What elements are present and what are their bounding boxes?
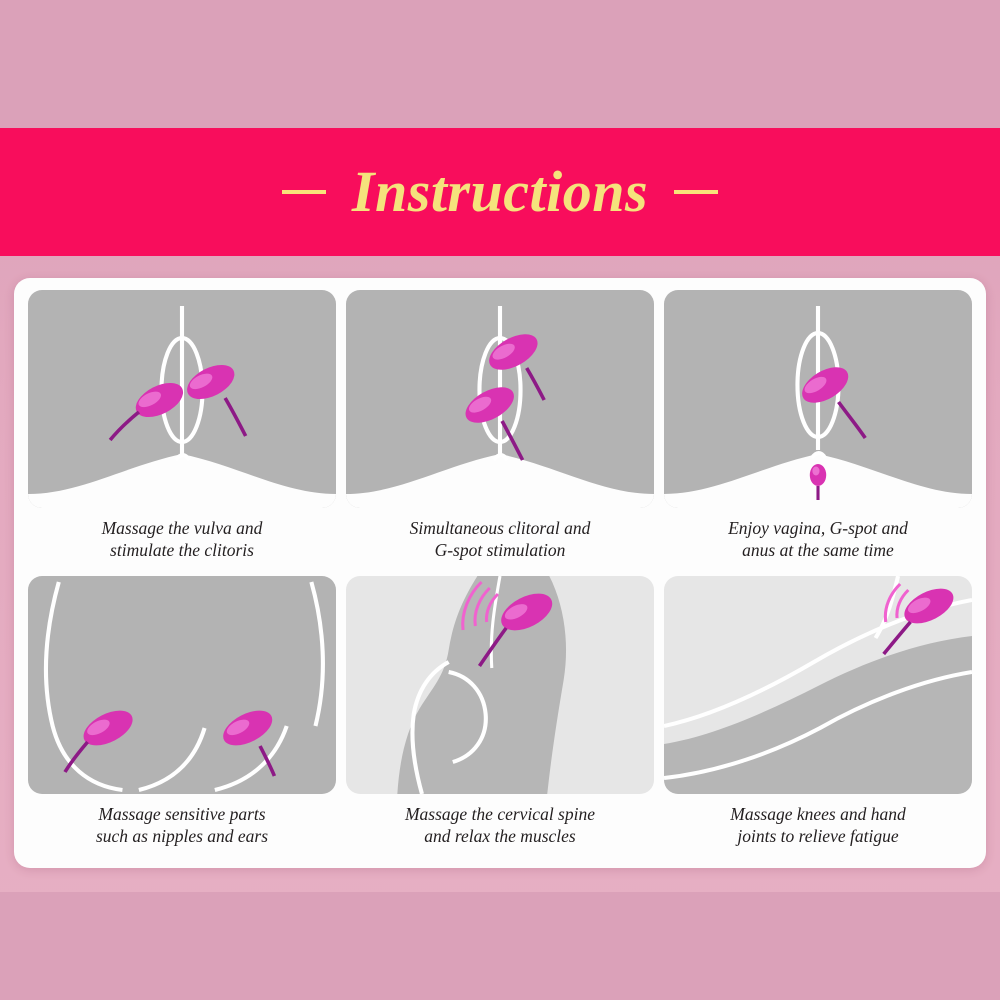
- instruction-item-2: Simultaneous clitoral and G-spot stimula…: [346, 290, 654, 570]
- illustration-panel-2: [346, 290, 654, 508]
- egg-pair-2: [346, 290, 654, 508]
- illustration-panel-1: [28, 290, 336, 508]
- egg-pair-1: [28, 290, 336, 508]
- title-group: Instructions: [282, 163, 718, 221]
- panel-caption-3: Enjoy vagina, G-spot and anus at the sam…: [728, 518, 908, 562]
- instructions-card: Massage the vulva and stimulate the clit…: [14, 278, 986, 868]
- panel-caption-5: Massage the cervical spine and relax the…: [405, 804, 595, 848]
- page-root: Instructions: [0, 0, 1000, 1000]
- illustration-panel-5: [346, 576, 654, 794]
- illustration-panel-6: [664, 576, 972, 794]
- egg-pair-4: [28, 576, 336, 794]
- instructions-grid: Massage the vulva and stimulate the clit…: [28, 290, 972, 856]
- panel-caption-2: Simultaneous clitoral and G-spot stimula…: [410, 518, 591, 562]
- panel-caption-1: Massage the vulva and stimulate the clit…: [102, 518, 263, 562]
- title-bar: Instructions: [0, 128, 1000, 256]
- top-decoration-band: [0, 0, 1000, 128]
- bottom-decoration-band: [0, 892, 1000, 1000]
- egg-knee-6: [664, 576, 972, 794]
- panel-caption-6: Massage knees and hand joints to relieve…: [730, 804, 905, 848]
- vibration-waves-icon: [463, 582, 498, 630]
- egg-group-3: [664, 290, 972, 508]
- instruction-item-6: Massage knees and hand joints to relieve…: [664, 576, 972, 856]
- anus-egg: [810, 464, 826, 500]
- instruction-item-1: Massage the vulva and stimulate the clit…: [28, 290, 336, 570]
- title-rule-left-icon: [282, 190, 326, 194]
- page-title: Instructions: [352, 163, 648, 221]
- instruction-item-3: Enjoy vagina, G-spot and anus at the sam…: [664, 290, 972, 570]
- instruction-item-5: Massage the cervical spine and relax the…: [346, 576, 654, 856]
- egg-neck-5: [346, 576, 654, 794]
- illustration-panel-3: [664, 290, 972, 508]
- instruction-item-4: Massage sensitive parts such as nipples …: [28, 576, 336, 856]
- title-rule-right-icon: [674, 190, 718, 194]
- illustration-panel-4: [28, 576, 336, 794]
- panel-caption-4: Massage sensitive parts such as nipples …: [96, 804, 268, 848]
